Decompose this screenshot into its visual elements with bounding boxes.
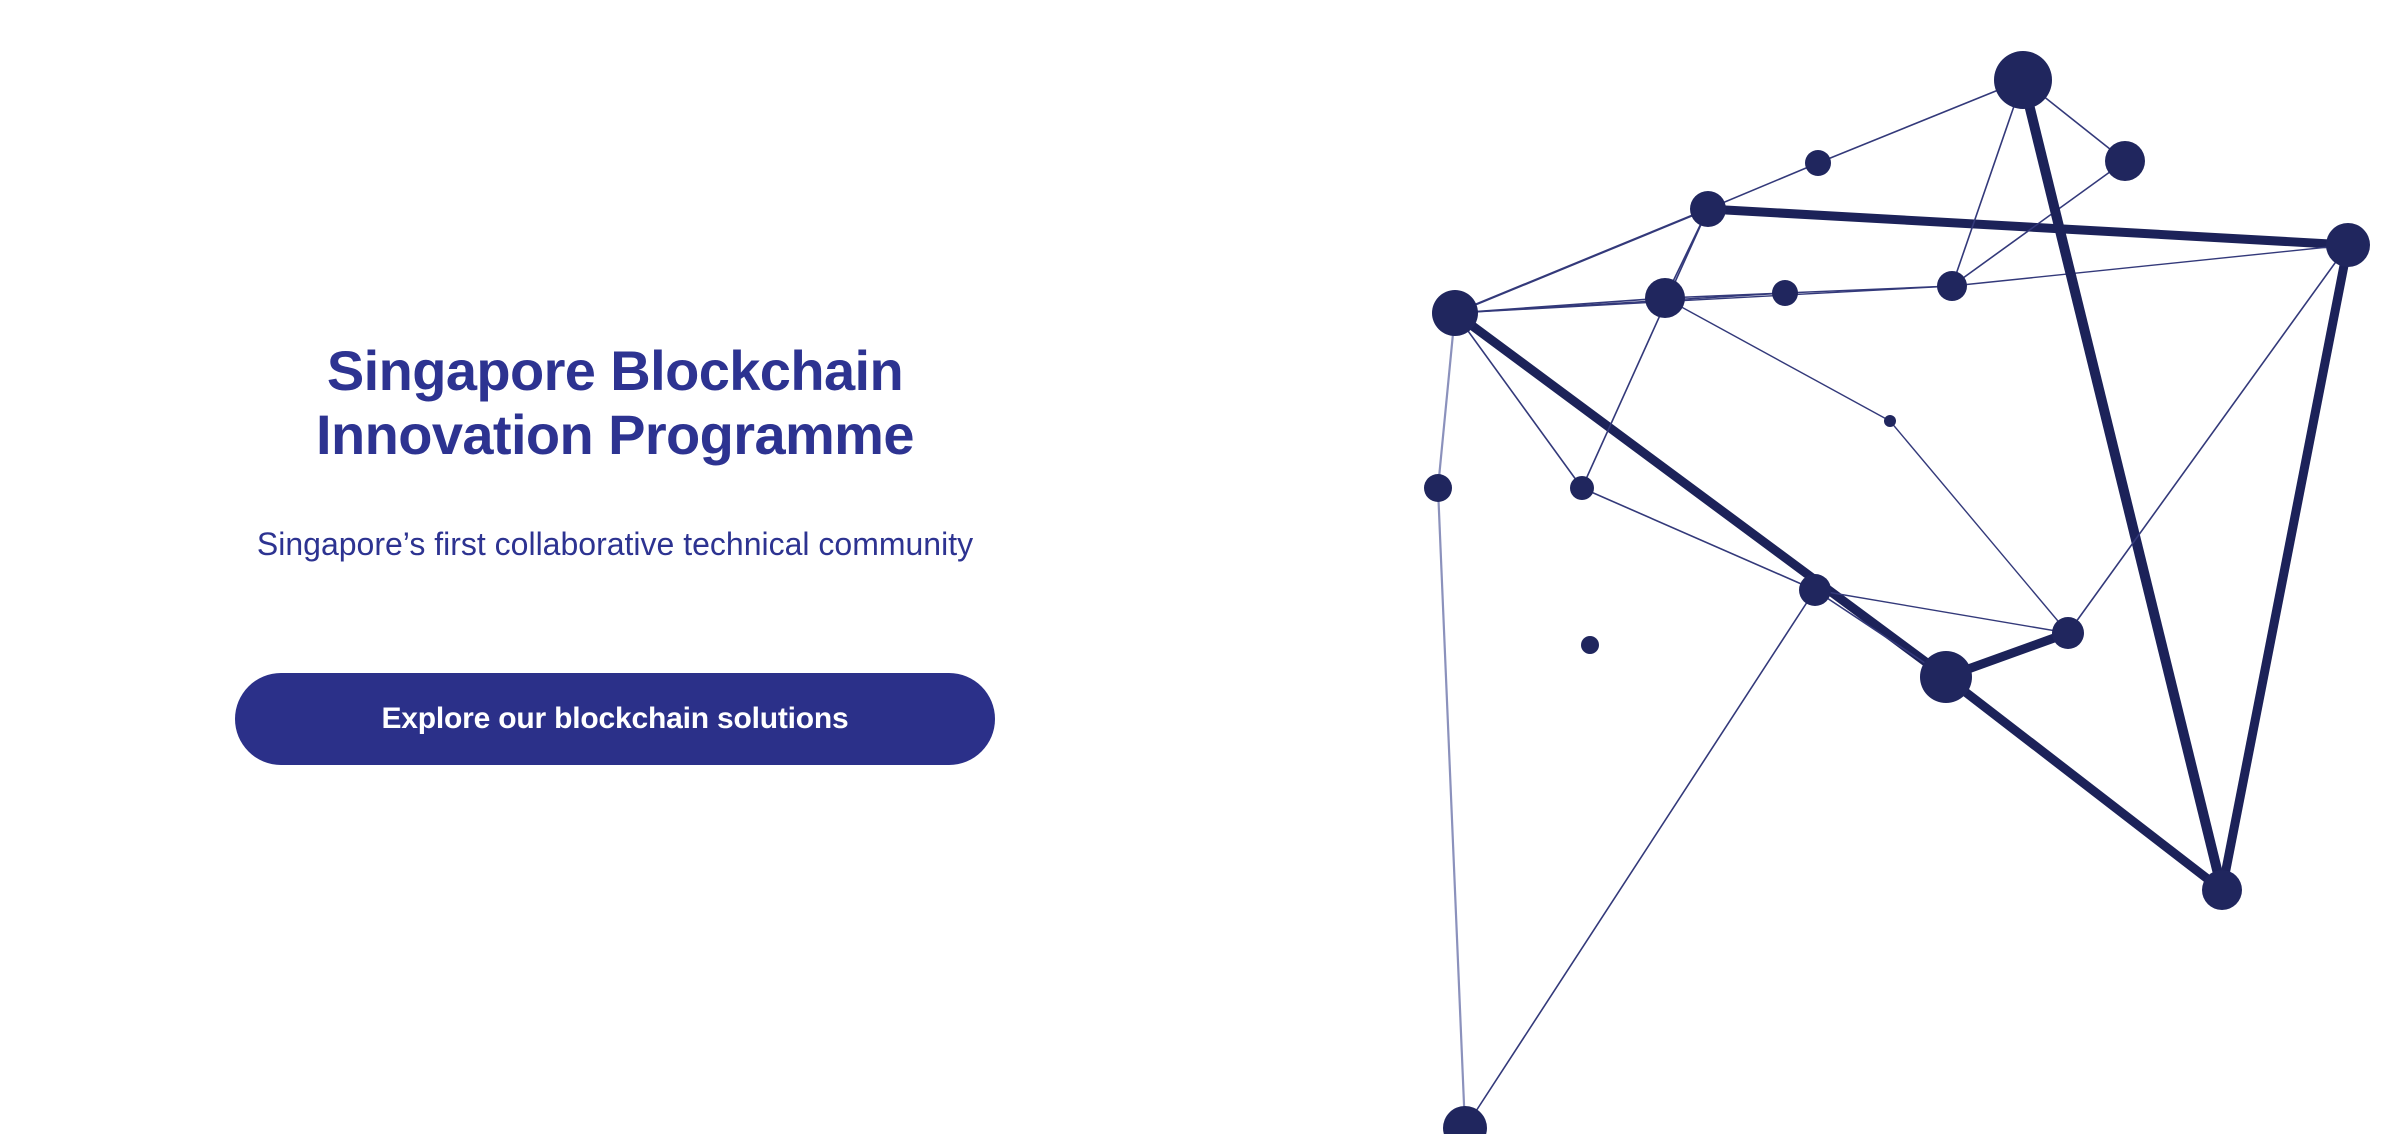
network-edge xyxy=(1946,633,2068,677)
network-edge xyxy=(1946,677,2222,890)
network-node xyxy=(1690,191,1726,227)
network-node xyxy=(1443,1106,1487,1134)
network-edge xyxy=(1455,293,1785,313)
network-node xyxy=(2326,223,2370,267)
hero-subtitle: Singapore’s first collaborative technica… xyxy=(175,524,1055,566)
page-title: Singapore Blockchain Innovation Programm… xyxy=(175,339,1055,468)
network-edge-layer xyxy=(1438,80,2348,1128)
network-node xyxy=(1570,476,1594,500)
network-node xyxy=(1432,290,1478,336)
blockchain-network-illustration xyxy=(1200,0,2400,1134)
hero-section: Singapore Blockchain Innovation Programm… xyxy=(0,0,2400,1134)
network-edge xyxy=(1665,293,1785,298)
network-node xyxy=(1994,51,2052,109)
network-edge xyxy=(1438,313,1455,488)
network-edge xyxy=(1438,488,1465,1128)
network-edge xyxy=(1455,298,1665,313)
network-edge xyxy=(1665,209,1708,298)
network-node xyxy=(2202,870,2242,910)
network-edge xyxy=(2068,245,2348,633)
network-node xyxy=(2105,141,2145,181)
network-edge xyxy=(1815,590,2068,633)
network-edge xyxy=(1708,209,2348,245)
network-svg xyxy=(1200,0,2400,1134)
network-node-layer xyxy=(1424,51,2370,1134)
network-node xyxy=(2052,617,2084,649)
network-node xyxy=(1772,280,1798,306)
network-edge xyxy=(1455,286,1952,313)
network-edge xyxy=(2222,245,2348,890)
network-edge xyxy=(2023,80,2125,161)
network-edge xyxy=(1455,313,1582,488)
network-edge xyxy=(1890,421,2068,633)
network-edge xyxy=(1708,163,1818,209)
network-edge xyxy=(1582,209,1708,488)
cta-wrapper: Explore our blockchain solutions xyxy=(175,673,1055,765)
hero-copy-inner: Singapore Blockchain Innovation Programm… xyxy=(175,339,1055,765)
network-edge xyxy=(1815,590,1946,677)
network-edge xyxy=(1952,80,2023,286)
network-node xyxy=(1805,150,1831,176)
network-edge xyxy=(1455,209,1708,313)
network-node xyxy=(1937,271,1967,301)
network-edge xyxy=(1952,161,2125,286)
network-edge xyxy=(1818,80,2023,163)
network-edge xyxy=(1665,298,1890,421)
hero-copy-column: Singapore Blockchain Innovation Programm… xyxy=(0,0,1230,1134)
network-edge xyxy=(1455,313,1946,677)
explore-solutions-button[interactable]: Explore our blockchain solutions xyxy=(235,673,995,765)
network-node xyxy=(1884,415,1896,427)
network-edge xyxy=(1785,286,1952,293)
network-edge xyxy=(1952,245,2348,286)
network-node xyxy=(1581,636,1599,654)
network-node xyxy=(1920,651,1972,703)
network-node xyxy=(1424,474,1452,502)
network-edge xyxy=(1582,488,1815,590)
network-edge xyxy=(1465,590,1815,1128)
network-node xyxy=(1645,278,1685,318)
network-edge xyxy=(2023,80,2222,890)
network-node xyxy=(1799,574,1831,606)
